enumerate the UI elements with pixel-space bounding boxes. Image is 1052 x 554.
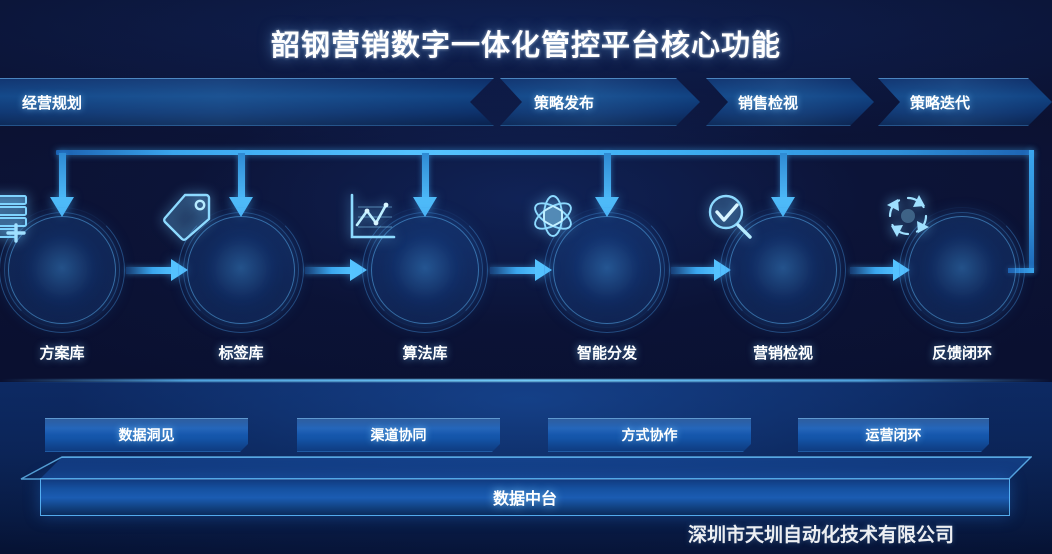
capability-label: 运营闭环 [866,425,922,445]
section-divider [0,379,1052,382]
phase-band: 经营规划 策略发布 销售检视 策略迭代 [0,78,1052,126]
flow-node-label: 营销检视 [693,342,873,363]
flow-node-label: 智能分发 [517,342,697,363]
platform-slab-top-face [20,457,1032,479]
capability-bar-data-insight[interactable]: 数据洞见 [45,418,248,452]
phase-chevron-3[interactable]: 销售检视 [706,78,874,126]
phase-chevron-4[interactable]: 策略迭代 [878,78,1052,126]
line-chart-icon [344,189,398,243]
flow-node-label: 反馈闭环 [872,342,1052,363]
atom-network-icon [526,189,580,243]
circular-arrows-icon [881,189,935,243]
phase-label: 策略迭代 [910,92,970,113]
tag-icon [160,189,214,243]
loop-back-line-icon [1029,150,1034,272]
flow-node-label: 标签库 [151,342,331,363]
arrow-right-icon [305,263,367,277]
platform-slab-front-face[interactable]: 数据中台 [40,478,1010,516]
phase-chevron-2[interactable]: 策略发布 [500,78,700,126]
watermark-text: 深圳市天圳自动化技术有限公司 [688,520,954,547]
magnifier-check-icon [702,189,756,243]
capability-bar-method-collaboration[interactable]: 方式协作 [548,418,751,452]
horizontal-bus-line-icon [56,150,1034,155]
phase-label: 销售检视 [738,92,798,113]
capability-bar-operations-loop[interactable]: 运营闭环 [798,418,989,452]
capability-bar-channel-synergy[interactable]: 渠道协同 [297,418,500,452]
capability-label: 渠道协同 [371,425,427,445]
capability-label: 方式协作 [622,425,678,445]
capability-label: 数据洞见 [119,425,175,445]
infographic-slide: 韶钢营销数字一体化管控平台核心功能 经营规划 策略发布 销售检视 策略迭代 [0,0,1052,554]
flow-node-label: 方案库 [0,342,152,363]
document-library-plus-icon [0,189,35,243]
phase-label: 经营规划 [22,92,82,113]
phase-label: 策略发布 [534,92,594,113]
platform-label: 数据中台 [493,485,557,509]
phase-chevron-1[interactable]: 经营规划 [0,78,494,126]
page-title: 韶钢营销数字一体化管控平台核心功能 [0,22,1052,64]
arrow-right-icon [490,263,552,277]
flow-node-label: 算法库 [335,342,515,363]
